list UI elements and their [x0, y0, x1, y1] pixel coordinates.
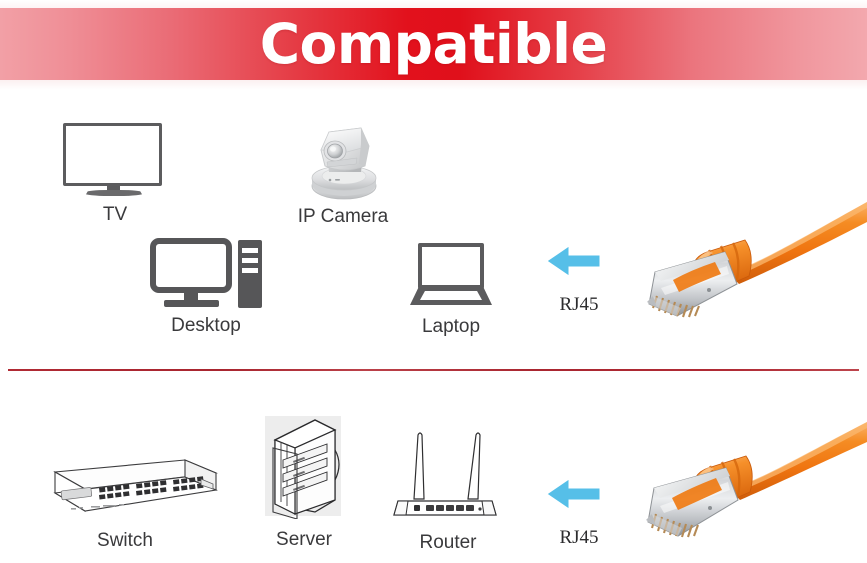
- desktop-drive-bay: [242, 258, 258, 263]
- device-router: Router: [388, 420, 508, 558]
- device-desktop: Desktop: [145, 232, 267, 340]
- wifi-router-icon: [392, 425, 504, 520]
- connector-label-rj45: RJ45: [525, 527, 633, 549]
- device-tv: TV: [50, 118, 180, 228]
- header-banner: Compatible: [0, 8, 867, 80]
- page-title: Compatible: [260, 17, 608, 72]
- ip-camera-icon: [299, 114, 389, 204]
- arrow-left-icon: [545, 477, 601, 511]
- device-label-router: Router: [388, 532, 508, 554]
- desktop-drive-bay: [242, 268, 258, 273]
- rj45-cable-orange: [633, 196, 867, 346]
- device-server: Server: [248, 412, 360, 558]
- connector-top: RJ45: [525, 240, 633, 332]
- server-rack-icon: [263, 416, 345, 519]
- laptop-keyboard-deck: [420, 291, 482, 300]
- device-label-laptop: Laptop: [390, 316, 512, 338]
- desktop-computer-icon: [150, 238, 262, 310]
- network-switch-icon: [33, 455, 218, 517]
- device-ip-camera: IP Camera: [283, 112, 403, 242]
- arrow-left-icon: [545, 244, 601, 278]
- desktop-drive-bay: [242, 248, 258, 253]
- tv-base: [85, 190, 143, 196]
- section-divider: [8, 369, 859, 371]
- device-label-tv: TV: [50, 204, 180, 226]
- tv-icon: [63, 123, 166, 198]
- device-label-switch: Switch: [25, 530, 225, 552]
- device-label-ip-camera: IP Camera: [283, 206, 403, 228]
- banner-bottom-fade: [0, 80, 867, 90]
- laptop-icon: [410, 243, 492, 305]
- desktop-monitor-foot: [164, 300, 219, 307]
- banner-top-fade: [0, 0, 867, 8]
- device-switch: Switch: [25, 450, 225, 558]
- device-laptop: Laptop: [390, 238, 512, 342]
- rj45-cable-orange: [626, 418, 867, 558]
- device-label-desktop: Desktop: [145, 315, 267, 337]
- laptop-screen: [418, 243, 484, 289]
- connector-label-rj45: RJ45: [525, 294, 633, 316]
- desktop-monitor: [150, 238, 232, 293]
- device-label-server: Server: [248, 529, 360, 551]
- connector-bottom: RJ45: [525, 473, 633, 563]
- tv-screen: [63, 123, 162, 186]
- desktop-tower: [238, 240, 262, 308]
